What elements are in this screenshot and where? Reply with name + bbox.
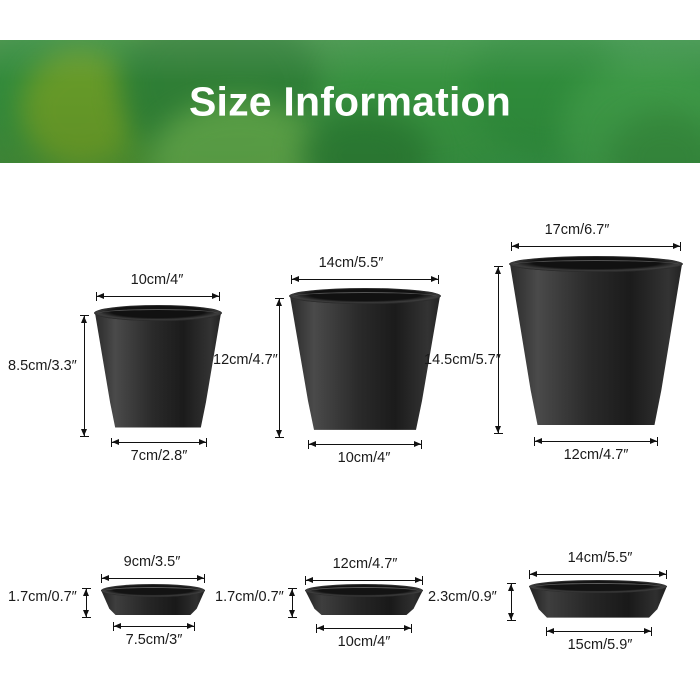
medium-saucer-top-diameter-label: 12cm/4.7″	[333, 556, 398, 572]
large-pot-top-dimension-line	[511, 242, 681, 251]
small-pot-top-dimension-line	[96, 292, 220, 301]
size-information-infographic: Size Information 10cm/4″ 8.5cm/3.3″ 7cm/…	[0, 0, 700, 700]
large-pot-height-dimension-line	[494, 266, 503, 434]
header-banner: Size Information	[0, 40, 700, 163]
large-pot-height-label: 14.5cm/5.7″	[424, 352, 501, 368]
medium-pot-top-diameter-label: 14cm/5.5″	[319, 255, 384, 271]
small-pot-top-diameter-label: 10cm/4″	[131, 272, 184, 288]
small-saucer-bottom-diameter-label: 7.5cm/3″	[126, 632, 183, 648]
small-saucer-bottom-dimension-line	[113, 622, 195, 631]
medium-saucer-rim	[305, 590, 423, 616]
large-saucer-height-dimension-line	[507, 583, 516, 621]
small-pot-height-label: 8.5cm/3.3″	[8, 358, 77, 374]
large-saucer-bottom-dimension-line	[546, 627, 652, 636]
page-title: Size Information	[0, 81, 700, 122]
medium-pot-height-dimension-line	[275, 298, 284, 438]
small-saucer-height-dimension-line	[82, 588, 91, 618]
medium-saucer-bottom-dimension-line	[316, 624, 412, 633]
small-saucer-height-label: 1.7cm/0.7″	[8, 589, 77, 605]
medium-pot-height-label: 12cm/4.7″	[213, 352, 278, 368]
small-saucer-rim	[101, 590, 205, 616]
medium-pot-bottom-diameter-label: 10cm/4″	[338, 450, 391, 466]
small-saucer-top-dimension-line	[101, 574, 205, 583]
small-pot-height-dimension-line	[80, 315, 89, 437]
small-pot-bottom-diameter-label: 7cm/2.8″	[131, 448, 188, 464]
large-saucer-rim	[529, 586, 667, 619]
medium-saucer-bottom-diameter-label: 10cm/4″	[338, 634, 391, 650]
large-pot-top-diameter-label: 17cm/6.7″	[545, 222, 610, 238]
large-pot-bottom-diameter-label: 12cm/4.7″	[564, 447, 629, 463]
medium-pot-bottom-dimension-line	[308, 440, 422, 449]
small-pot-rim	[95, 313, 221, 431]
medium-pot-rim	[290, 296, 440, 434]
medium-saucer-height-label: 1.7cm/0.7″	[215, 589, 284, 605]
medium-saucer-height-dimension-line	[288, 588, 297, 618]
medium-pot-top-dimension-line	[291, 275, 439, 284]
small-saucer-top-diameter-label: 9cm/3.5″	[124, 554, 181, 570]
small-pot-bottom-dimension-line	[111, 438, 207, 447]
large-saucer-top-diameter-label: 14cm/5.5″	[568, 550, 633, 566]
large-saucer-height-label: 2.3cm/0.9″	[428, 589, 497, 605]
large-saucer-top-dimension-line	[529, 570, 667, 579]
large-pot-rim	[510, 264, 682, 430]
large-pot-bottom-dimension-line	[534, 437, 658, 446]
large-saucer-bottom-diameter-label: 15cm/5.9″	[568, 637, 633, 653]
